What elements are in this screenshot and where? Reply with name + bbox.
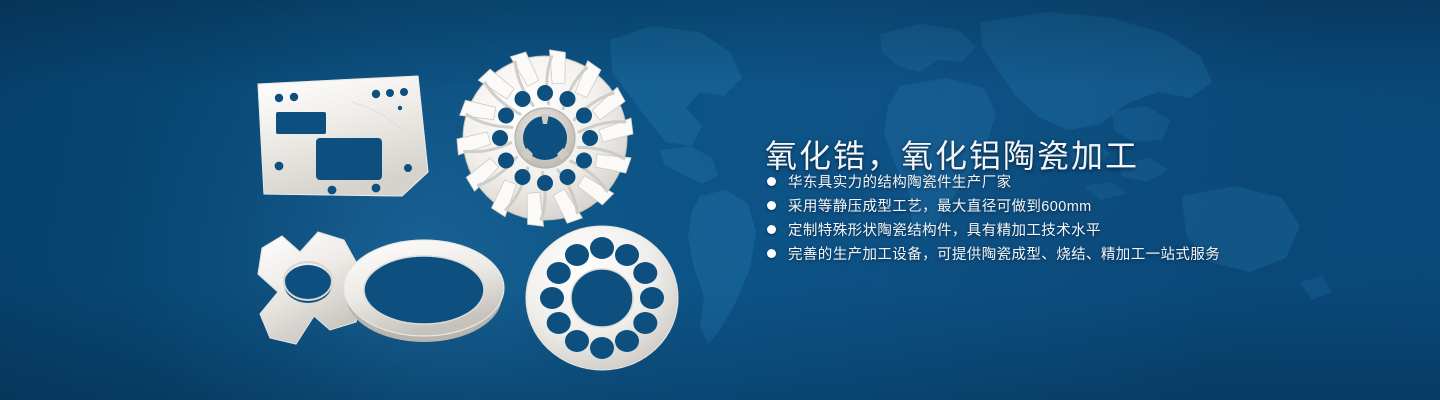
list-item: 华东具实力的结构陶瓷件生产厂家 (767, 170, 1220, 192)
ceramic-parts-artwork (0, 0, 720, 400)
bullet-dot-icon (767, 177, 776, 186)
bullet-dot-icon (767, 225, 776, 234)
ceramic-plate (252, 72, 432, 200)
bullet-dot-icon (767, 201, 776, 210)
feature-text: 定制特殊形状陶瓷结构件，具有精加工技术水平 (788, 219, 1101, 240)
hero-banner: 氧化锆，氧化铝陶瓷加工 华东具实力的结构陶瓷件生产厂家 采用等静压成型工艺，最大… (0, 0, 1440, 400)
banner-text-block: 氧化锆，氧化铝陶瓷加工 华东具实力的结构陶瓷件生产厂家 采用等静压成型工艺，最大… (765, 0, 1405, 400)
feature-text: 华东具实力的结构陶瓷件生产厂家 (788, 171, 1012, 192)
ceramic-ring (340, 232, 516, 358)
bullet-dot-icon (767, 249, 776, 258)
list-item: 完善的生产加工设备，可提供陶瓷成型、烧结、精加工一站式服务 (767, 242, 1220, 264)
ceramic-impeller (452, 52, 638, 228)
list-item: 定制特殊形状陶瓷结构件，具有精加工技术水平 (767, 218, 1220, 240)
feature-list: 华东具实力的结构陶瓷件生产厂家 采用等静压成型工艺，最大直径可做到600mm 定… (767, 170, 1220, 266)
feature-text: 完善的生产加工设备，可提供陶瓷成型、烧结、精加工一站式服务 (788, 243, 1220, 264)
feature-text: 采用等静压成型工艺，最大直径可做到600mm (788, 195, 1092, 216)
ceramic-disc (522, 224, 686, 374)
list-item: 采用等静压成型工艺，最大直径可做到600mm (767, 194, 1220, 216)
